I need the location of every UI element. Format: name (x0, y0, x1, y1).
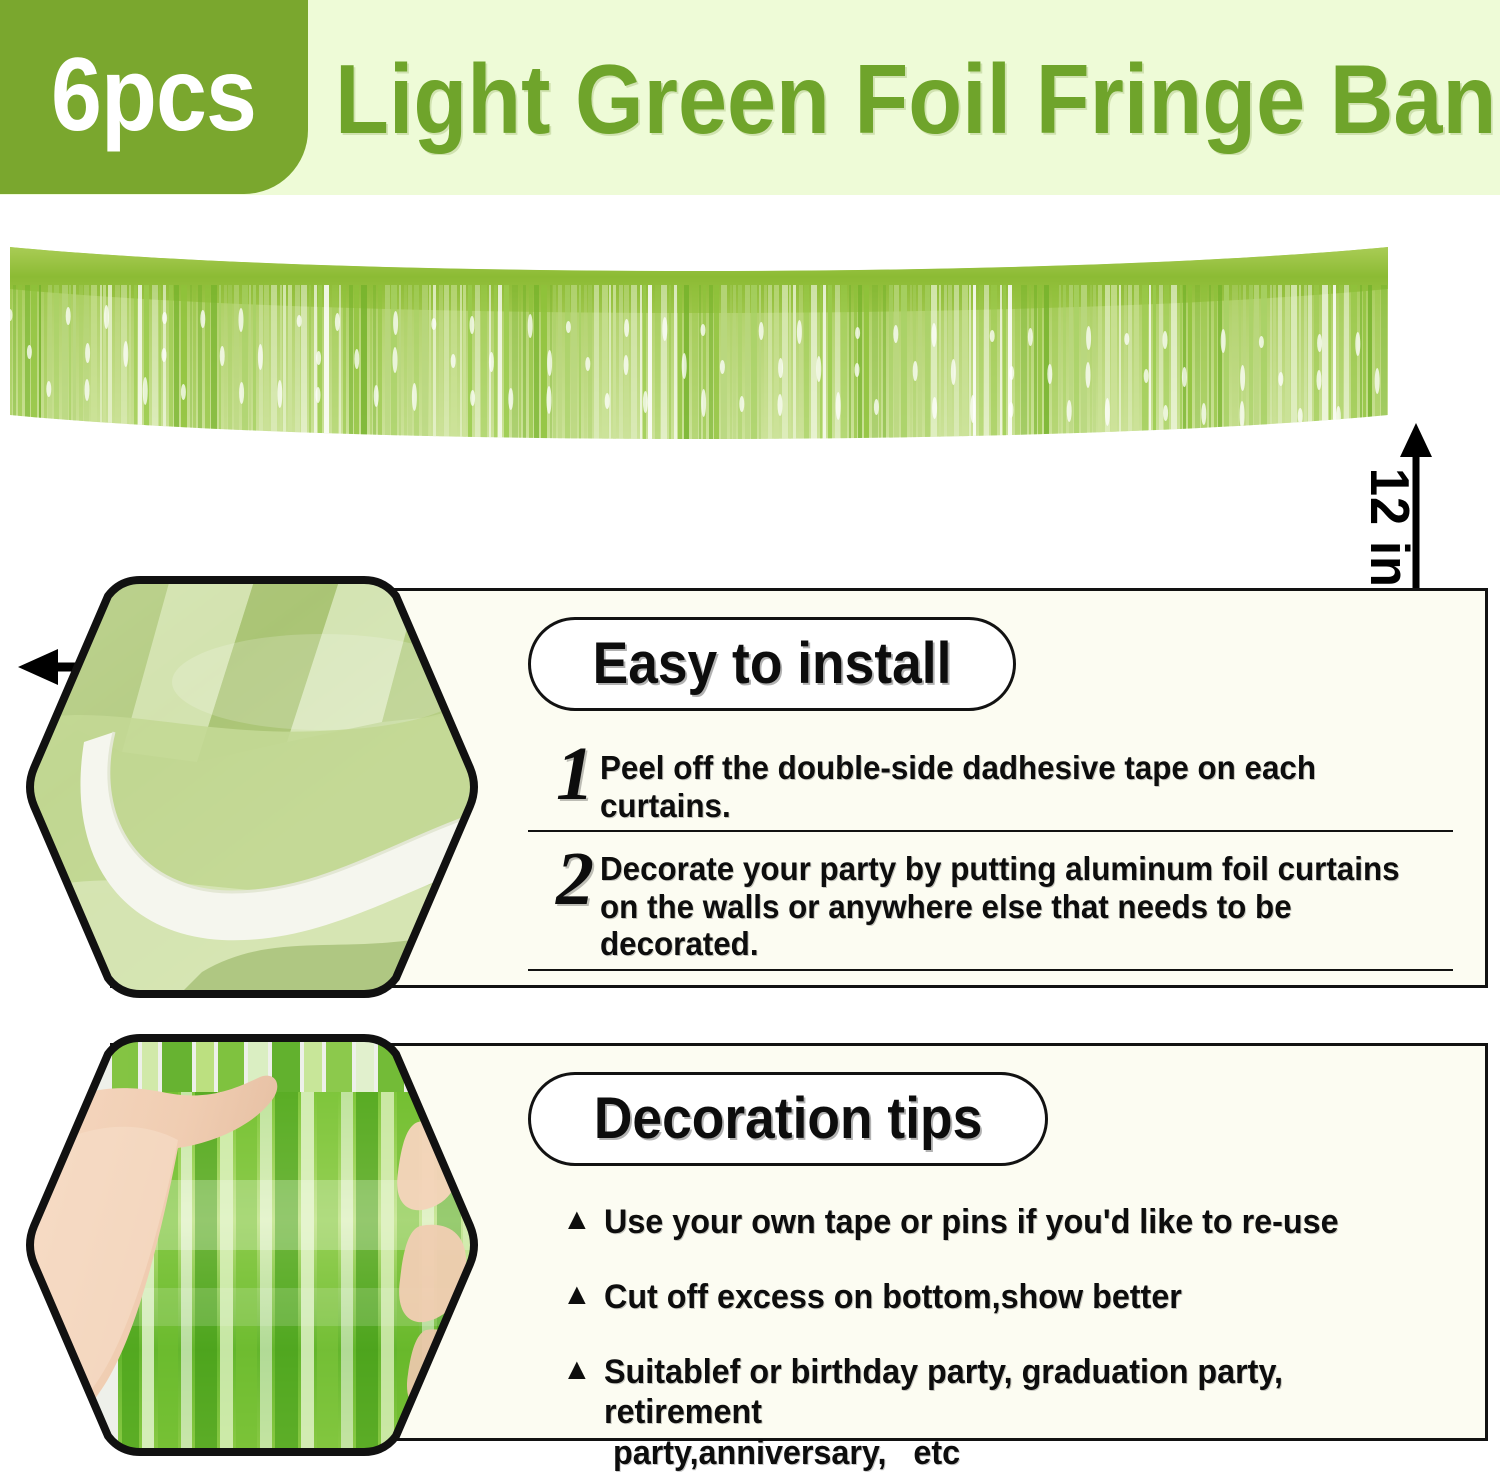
product-dimension-diagram: 12 in 10 ft (0, 195, 1500, 555)
tips-panel-body: Decoration tips ▲ Use your own tape or p… (528, 1046, 1461, 1438)
quantity-badge: 6pcs (0, 0, 308, 194)
triangle-bullet-icon: ▲ (562, 1277, 592, 1312)
triangle-bullet-icon: ▲ (562, 1352, 592, 1387)
tip-text: Cut off excess on bottom,show better (604, 1277, 1182, 1318)
page-title: Light Green Foil Fringe Banner (335, 44, 1495, 154)
install-step: 1 Peel off the double-side dadhesive tap… (528, 743, 1453, 832)
decoration-tips-list: ▲ Use your own tape or pins if you'd lik… (528, 1202, 1461, 1474)
install-steps-list: 1 Peel off the double-side dadhesive tap… (528, 743, 1461, 971)
tips-panel-title-label: Decoration tips (594, 1090, 982, 1148)
install-step-number: 1 (556, 743, 594, 805)
install-step-text: Decorate your party by putting aluminum … (600, 848, 1410, 963)
install-step-text: Peel off the double-side dadhesive tape … (600, 743, 1410, 824)
tip-item: ▲ Suitablef or birthday party, graduatio… (562, 1352, 1447, 1474)
triangle-bullet-icon: ▲ (562, 1202, 592, 1237)
page-title-label: Light Green Foil Fringe Banner (335, 50, 1500, 148)
install-panel-title-label: Easy to install (593, 635, 952, 693)
install-panel-body: Easy to install 1 Peel off the double-si… (528, 591, 1461, 985)
install-step-number: 2 (556, 848, 594, 910)
install-panel-title: Easy to install (528, 617, 1016, 711)
fringe-banner-image (10, 245, 1388, 445)
adhesive-tape-photo (22, 572, 482, 1002)
hand-holding-fringe-photo (22, 1030, 482, 1460)
tips-panel-title: Decoration tips (528, 1072, 1048, 1166)
tip-item: ▲ Cut off excess on bottom,show better (562, 1277, 1447, 1318)
tip-text: Suitablef or birthday party, graduation … (604, 1352, 1405, 1474)
tip-text: Use your own tape or pins if you'd like … (604, 1202, 1339, 1243)
quantity-badge-label: 6pcs (51, 43, 256, 151)
tip-item: ▲ Use your own tape or pins if you'd lik… (562, 1202, 1447, 1243)
install-step: 2 Decorate your party by putting aluminu… (528, 848, 1453, 971)
